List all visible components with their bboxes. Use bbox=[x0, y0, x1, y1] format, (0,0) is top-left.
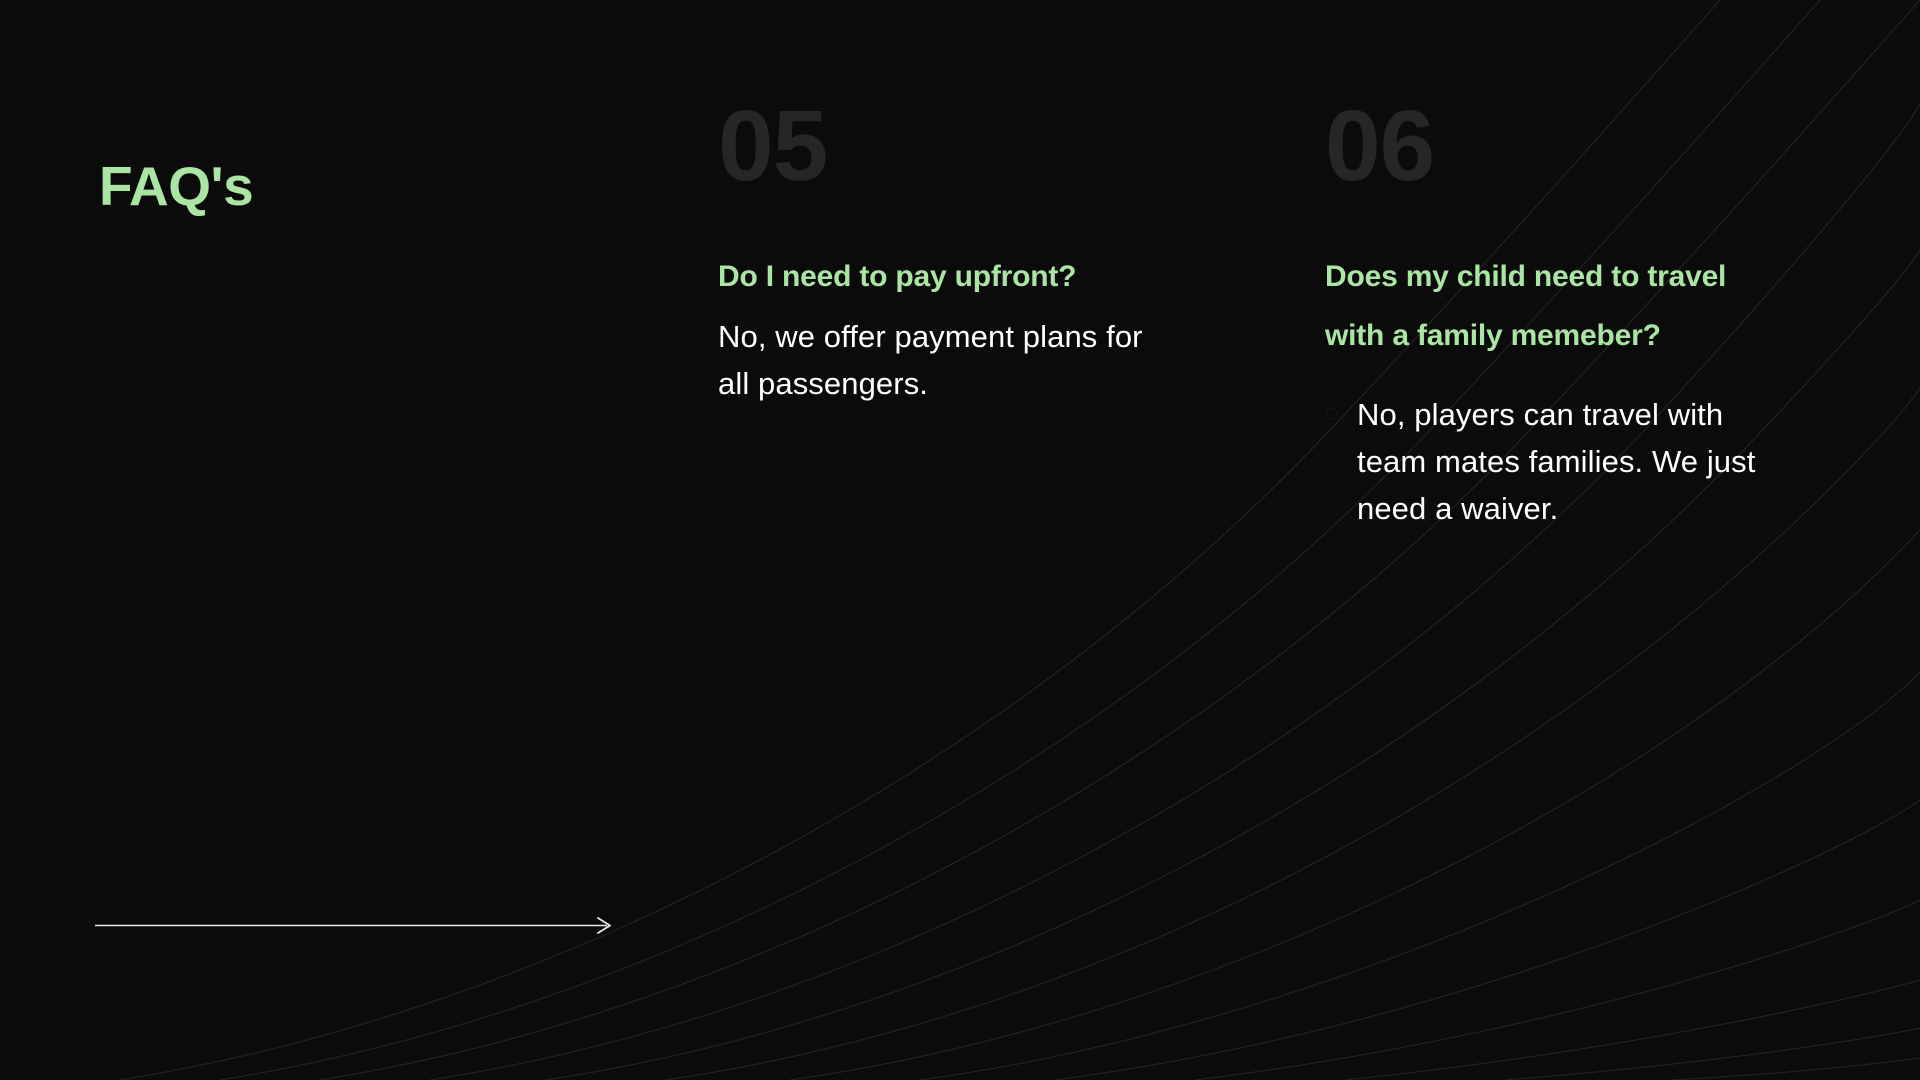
faq-item-06: 06 Does my child need to travel with a f… bbox=[1325, 96, 1785, 532]
faq-answer-list: No, players can travel with team mates f… bbox=[1325, 391, 1785, 532]
list-item: No, players can travel with team mates f… bbox=[1325, 391, 1785, 532]
faq-question: Do I need to pay upfront? bbox=[718, 248, 1178, 307]
page-title: FAQ's bbox=[99, 159, 253, 214]
arrow-right-icon bbox=[95, 905, 620, 945]
faq-item-05: 05 Do I need to pay upfront? No, we offe… bbox=[718, 96, 1178, 407]
faq-slide: FAQ's 05 Do I need to pay upfront? No, w… bbox=[0, 0, 1920, 1080]
faq-number: 06 bbox=[1325, 96, 1785, 196]
faq-answer: No, we offer payment plans for all passe… bbox=[718, 313, 1178, 407]
faq-question: Does my child need to travel with a fami… bbox=[1325, 248, 1785, 365]
faq-number: 05 bbox=[718, 96, 1178, 196]
